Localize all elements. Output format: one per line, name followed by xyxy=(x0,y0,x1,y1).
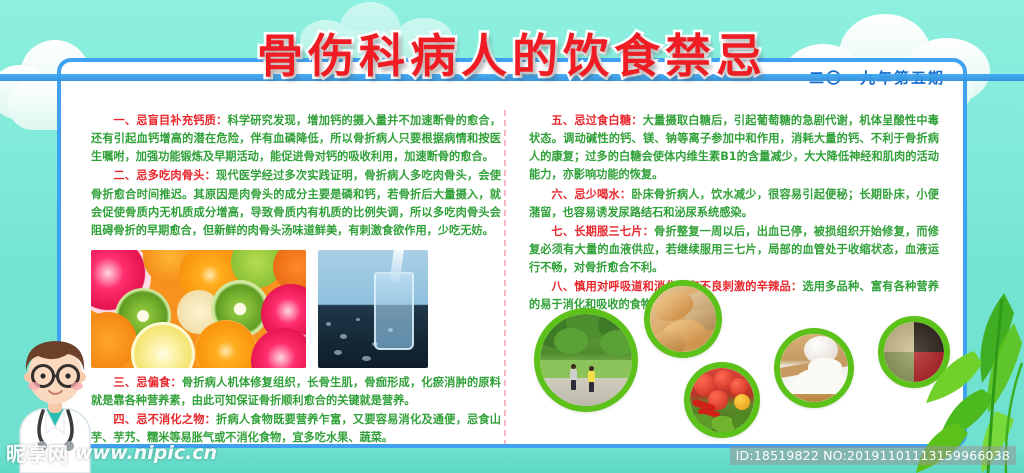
water-photo xyxy=(318,250,428,368)
watermark-site-en: www.nipic.cn xyxy=(75,442,217,464)
left-text-column-lower: 三、忌偏食：骨折病人机体修复组织，长骨生肌，骨痂形成，化瘀消肿的原料就是靠各种营… xyxy=(91,374,501,448)
paragraph-4-heading: 四、忌不消化之物： xyxy=(113,413,216,426)
park-circle xyxy=(534,308,638,412)
person-right xyxy=(588,366,595,392)
id-watermark: ID:18519822 NO:20191101113159966038 xyxy=(730,446,1016,465)
paragraph-6: 六、忌少喝水：卧床骨折病人，饮水减少，很容易引起便秘；长期卧床，小便潴留，也容易… xyxy=(529,186,939,222)
cloud-middle-decoration xyxy=(300,2,460,57)
poster-canvas: 二〇一九年第五期 一、忌盲目补充钙质：科学研究发现，增加钙的摄入量并不加速断骨的… xyxy=(0,0,1024,473)
fruit-photo xyxy=(91,250,306,368)
watermark-site-zh: 昵享网 xyxy=(6,438,69,467)
paragraph-2: 二、忌多吃肉骨头：现代医学经过多次实践证明，骨折病人多吃肉骨头，会使骨折愈合时间… xyxy=(91,167,501,240)
paragraph-5: 五、忌过食白糖：大量摄取白糖后，引起葡萄糖的急剧代谢，机体呈酸性中毒状态。调动碱… xyxy=(529,112,939,185)
right-circle-row xyxy=(516,272,967,448)
grain-circle xyxy=(878,316,950,388)
paragraph-6-heading: 六、忌少喝水： xyxy=(551,188,631,201)
paragraph-1: 一、忌盲目补充钙质：科学研究发现，增加钙的摄入量并不加速断骨的愈合，还有引起血钙… xyxy=(91,112,501,166)
site-watermark: 昵享网 www.nipic.cn xyxy=(6,438,217,467)
paragraph-1-heading: 一、忌盲目补充钙质： xyxy=(113,114,227,127)
paragraph-7: 七、长期服三七片：骨折整复一周以后，出血已停，被损组织开始修复，而修复必须有大量… xyxy=(529,223,939,277)
person-left xyxy=(570,364,577,390)
paragraph-3: 三、忌偏食：骨折病人机体修复组织，长骨生肌，骨痂形成，化瘀消肿的原料就是靠各种营… xyxy=(91,374,501,410)
left-text-column: 一、忌盲目补充钙质：科学研究发现，增加钙的摄入量并不加速断骨的愈合，还有引起血钙… xyxy=(91,112,501,241)
content-board: 二〇一九年第五期 一、忌盲目补充钙质：科学研究发现，增加钙的摄入量并不加速断骨的… xyxy=(57,58,967,448)
paragraph-3-heading: 三、忌偏食： xyxy=(113,376,181,389)
issue-label: 二〇一九年第五期 xyxy=(809,67,945,88)
column-divider xyxy=(504,110,506,446)
paragraph-2-heading: 二、忌多吃肉骨头： xyxy=(113,169,216,182)
left-photo-row xyxy=(91,250,501,368)
veg-circle xyxy=(684,362,760,438)
paragraph-7-heading: 七、长期服三七片： xyxy=(551,225,654,238)
rice-circle xyxy=(774,328,854,408)
bread-circle xyxy=(644,280,722,358)
paragraph-5-heading: 五、忌过食白糖： xyxy=(551,114,642,127)
